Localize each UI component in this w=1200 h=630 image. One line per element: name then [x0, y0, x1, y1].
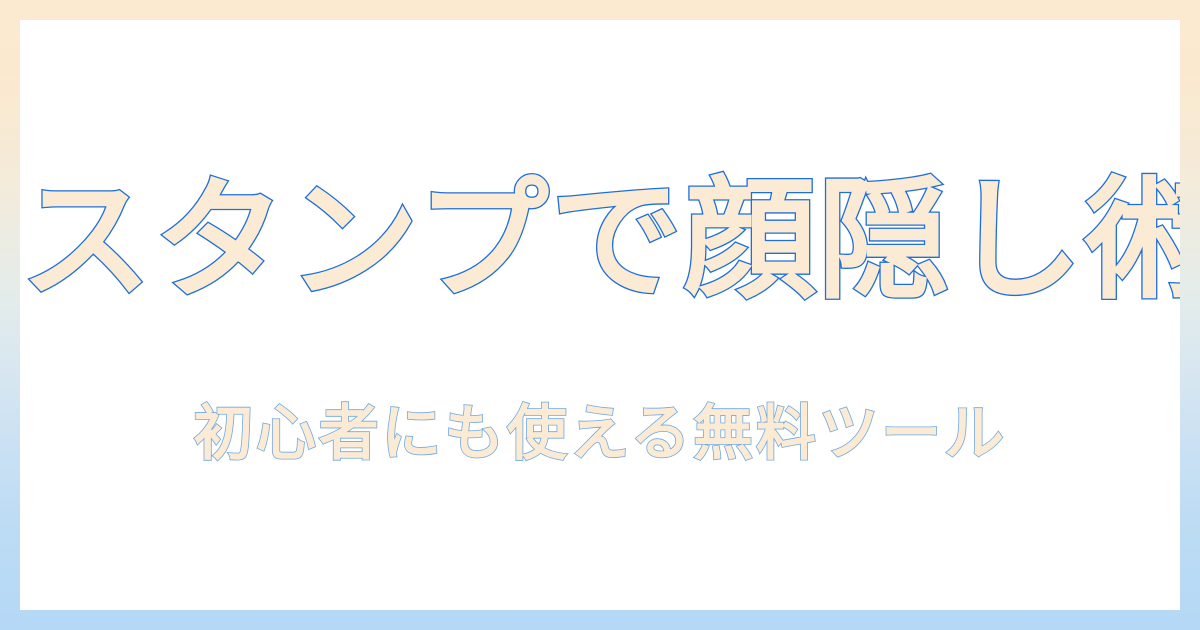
banner-subtitle: 初心者にも使える無料ツール — [193, 398, 1006, 470]
banner-frame: スタンプで顔隠し術 初心者にも使える無料ツール — [0, 0, 1200, 630]
banner-card: スタンプで顔隠し術 初心者にも使える無料ツール — [20, 20, 1180, 610]
title-container: スタンプで顔隠し術 — [20, 172, 1180, 311]
subtitle-container: 初心者にも使える無料ツール — [20, 398, 1180, 470]
banner-title: スタンプで顔隠し術 — [20, 172, 1180, 311]
